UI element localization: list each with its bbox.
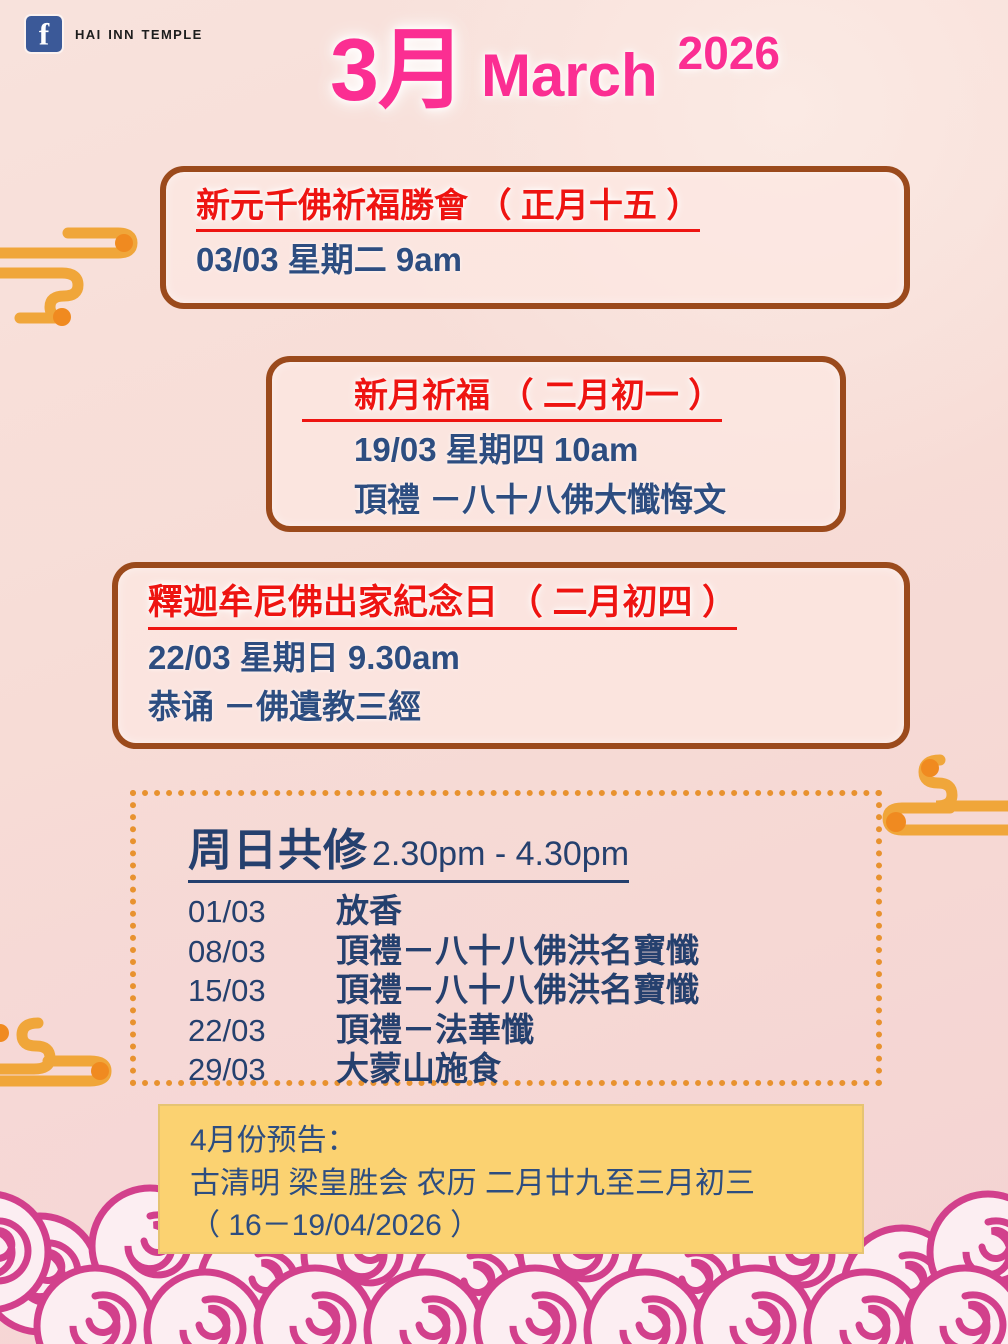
facebook-page-name: Hai Inn Temple (75, 23, 203, 45)
notice-line-3: （ 16－19/04/2026 ） (190, 1205, 862, 1248)
event-card-2: 新月祈福 （ 二月初一 ） 19/03 星期四 10am 頂禮 －八十八佛大懺悔… (266, 356, 846, 532)
event-card-3: 釋迦牟尼佛出家紀念日 （ 二月初四 ） 22/03 星期日 9.30am 恭诵 … (112, 562, 910, 749)
cloud-motif-right-middle (880, 738, 1008, 883)
event-card-1: 新元千佛祈福勝會 （ 正月十五 ） 03/03 星期二 9am (160, 166, 910, 309)
title-year: 2026 (678, 30, 780, 76)
poster-title: 3月 March 2026 (330, 28, 780, 112)
sunday-activity: 頂禮－八十八佛洪名寶懺 (336, 931, 699, 971)
sunday-activity: 大蒙山施食 (336, 1049, 501, 1089)
list-item: 01/03 放香 (188, 891, 876, 931)
event-title-2: 新月祈福 （ 二月初一 ） (302, 376, 722, 422)
sunday-activity: 頂禮－法華懺 (336, 1010, 534, 1050)
event-detail-1-1: 03/03 星期二 9am (196, 238, 880, 282)
sunday-date: 01/03 (188, 893, 336, 930)
list-item: 08/03 頂禮－八十八佛洪名寶懺 (188, 931, 876, 971)
event-detail-3-1: 22/03 星期日 9.30am (148, 636, 880, 680)
sunday-schedule-list: 01/03 放香 08/03 頂禮－八十八佛洪名寶懺 15/03 頂禮－八十八佛… (188, 891, 876, 1089)
event-detail-2-2: 頂禮 －八十八佛大懺悔文 (302, 478, 816, 522)
notice-line-2: 古清明 梁皇胜会 农历 二月廿九至三月初三 (190, 1163, 862, 1206)
event-title-3: 釋迦牟尼佛出家紀念日 （ 二月初四 ） (148, 582, 737, 630)
list-item: 29/03 大蒙山施食 (188, 1049, 876, 1089)
sunday-activity: 頂禮－八十八佛洪名寶懺 (336, 970, 699, 1010)
title-month-cn: 3月 (330, 28, 465, 112)
list-item: 22/03 頂禮－法華懺 (188, 1010, 876, 1050)
poster-canvas: Hai Inn Temple 3月 March 2026 新元千佛祈福勝會 （ … (0, 0, 1008, 1344)
cloud-motif-left-lower (0, 985, 128, 1115)
sunday-heading-label: 周日共修 (188, 826, 368, 875)
sunday-activity: 放香 (336, 891, 402, 931)
sunday-date: 22/03 (188, 1012, 336, 1049)
event-detail-2-1: 19/03 星期四 10am (302, 428, 816, 472)
sunday-date: 08/03 (188, 933, 336, 970)
event-detail-3-2: 恭诵 －佛遺教三經 (148, 685, 880, 729)
sunday-date: 29/03 (188, 1051, 336, 1088)
april-preview-notice: 4月份预告： 古清明 梁皇胜会 农历 二月廿九至三月初三 （ 16－19/04/… (158, 1104, 864, 1254)
sunday-heading-time: 2.30pm - 4.30pm (372, 835, 629, 873)
sunday-practice-card: 周日共修2.30pm - 4.30pm 01/03 放香 08/03 頂禮－八十… (130, 790, 882, 1086)
list-item: 15/03 頂禮－八十八佛洪名寶懺 (188, 970, 876, 1010)
event-title-1: 新元千佛祈福勝會 （ 正月十五 ） (196, 186, 700, 232)
sunday-date: 15/03 (188, 972, 336, 1009)
title-month-en: March (481, 46, 658, 106)
facebook-icon[interactable] (26, 16, 62, 52)
cloud-motif-left-upper (0, 195, 150, 345)
notice-line-1: 4月份预告： (190, 1120, 862, 1163)
facebook-page-credit[interactable]: Hai Inn Temple (26, 16, 203, 52)
sunday-heading: 周日共修2.30pm - 4.30pm (188, 814, 629, 883)
